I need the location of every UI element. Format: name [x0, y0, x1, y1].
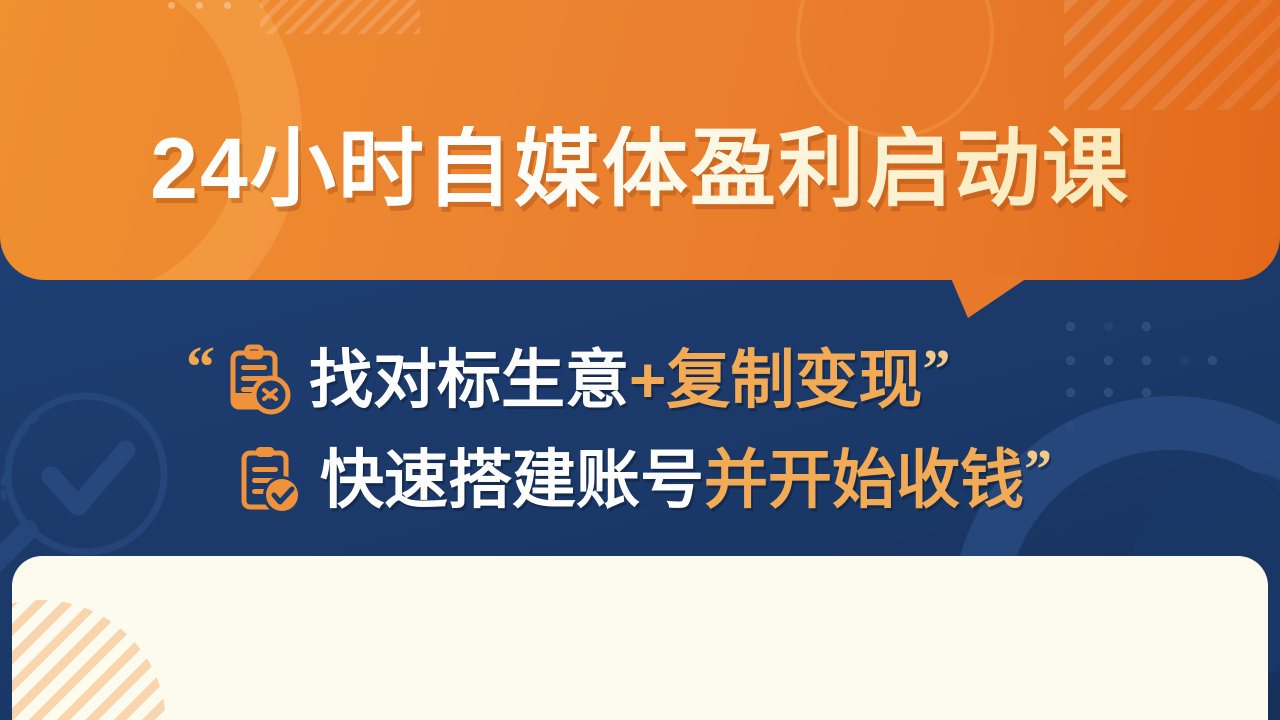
- tagline-text-primary: 快速搭建账号: [320, 444, 704, 516]
- quote-close-mark: ”: [1024, 439, 1052, 501]
- page-title: 24小时自媒体盈利启动课: [0, 126, 1280, 212]
- tagline-row: 快速搭建账号并开始收钱”: [0, 430, 1280, 530]
- diagonal-stripes-decor: [260, 0, 420, 34]
- clipboard-search-icon: [219, 343, 293, 417]
- tagline-text-primary: 找对标生意: [309, 344, 629, 416]
- oval-outline-decor: [796, 0, 994, 138]
- tagline-list: “ 找对标生意+复制变现”: [0, 330, 1280, 530]
- tagline-text-accent: +复制变现: [629, 344, 922, 416]
- tagline-row: “ 找对标生意+复制变现”: [0, 330, 1280, 430]
- bottom-content-card: [12, 556, 1268, 720]
- tagline-text: 找对标生意+复制变现”: [309, 348, 950, 412]
- quote-open-mark: “: [186, 338, 215, 396]
- speech-bubble-tail: [950, 276, 1030, 320]
- clipboard-check-icon: [230, 443, 304, 517]
- tagline-text-accent: 并开始收钱: [704, 444, 1024, 516]
- tagline-text: 快速搭建账号并开始收钱”: [320, 448, 1052, 512]
- promo-poster: 24小时自媒体盈利启动课 “ 找对标生意+复制变: [0, 0, 1280, 720]
- striped-circle-decor: [12, 600, 166, 720]
- quote-close-mark: ”: [922, 339, 950, 401]
